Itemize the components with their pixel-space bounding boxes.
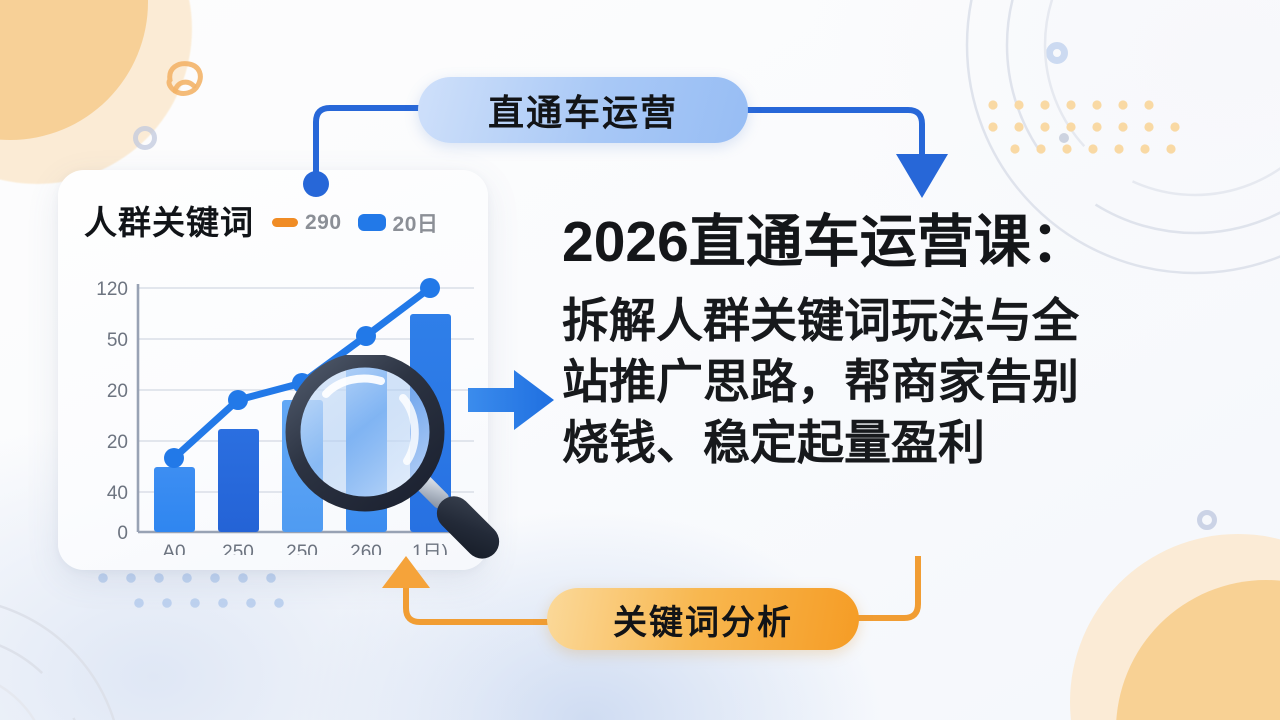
subcopy-line-3: 烧钱、稳定起量盈利 [562,412,1234,473]
y-tick-1: 50 [107,330,128,351]
decor-ring-top-right [1046,42,1068,64]
y-tick-2: 20 [107,381,128,402]
subcopy-line-1: 拆解人群关键词玩法与全 [562,290,1234,351]
legend-item-bar: 20日 [358,208,439,238]
y-tick-5: 0 [117,523,128,544]
pill-keyword-analysis[interactable]: 关键词分析 [547,588,859,650]
decor-dot-grid-orange [985,95,1185,170]
legend-swatch-line-icon [272,218,298,227]
subcopy: 拆解人群关键词玩法与全 站推广思路，帮商家告别 烧钱、稳定起量盈利 [562,290,1234,473]
legend-label-line: 290 [305,211,342,235]
x-tick-4: 1日) [412,542,448,555]
subcopy-line-2: 站推广思路，帮商家告别 [562,351,1234,412]
decor-circle-top-left [0,0,148,140]
poster-canvas: 人群关键词 290 20日 [0,0,1280,720]
decor-circle-top-left-halo [0,0,192,184]
x-tick-0: A0 [162,542,185,555]
decor-squiggle-icon [163,60,205,98]
y-tick-4: 40 [107,483,128,504]
x-tick-3: 260 [350,542,382,555]
pill-zhitongche-operations[interactable]: 直通车运营 [418,77,748,143]
decor-circle-bottom-right [1116,580,1280,720]
legend-item-line: 290 [272,211,342,235]
decor-dot-grid-blue [95,569,285,620]
connector-bottom-right [852,556,972,656]
connector-top-right [740,92,955,212]
x-tick-2: 250 [286,542,318,555]
chart-legend: 290 20日 [272,203,438,238]
x-tick-1: 250 [222,542,254,555]
chart-plot: 120 50 20 20 40 0 [76,270,476,555]
chart-card: 人群关键词 290 20日 [58,170,488,570]
y-tick-0: 120 [96,279,128,300]
connector-bottom-left [368,556,568,656]
legend-label-bar: 20日 [393,208,439,238]
decor-circle-bottom-right-halo [1070,534,1280,720]
headline: 2026直通车运营课： [562,212,1252,274]
decor-ring-bottom-right [1197,510,1217,530]
decor-ring-top-left [133,126,157,150]
chart-card-header: 人群关键词 290 20日 [84,196,468,244]
legend-swatch-bar-icon [358,214,386,231]
chart-title: 人群关键词 [84,196,254,244]
chart-bars [154,314,451,532]
y-tick-3: 20 [107,432,128,453]
copy-block: 2026直通车运营课： 拆解人群关键词玩法与全 站推广思路，帮商家告别 烧钱、稳… [562,212,1252,473]
